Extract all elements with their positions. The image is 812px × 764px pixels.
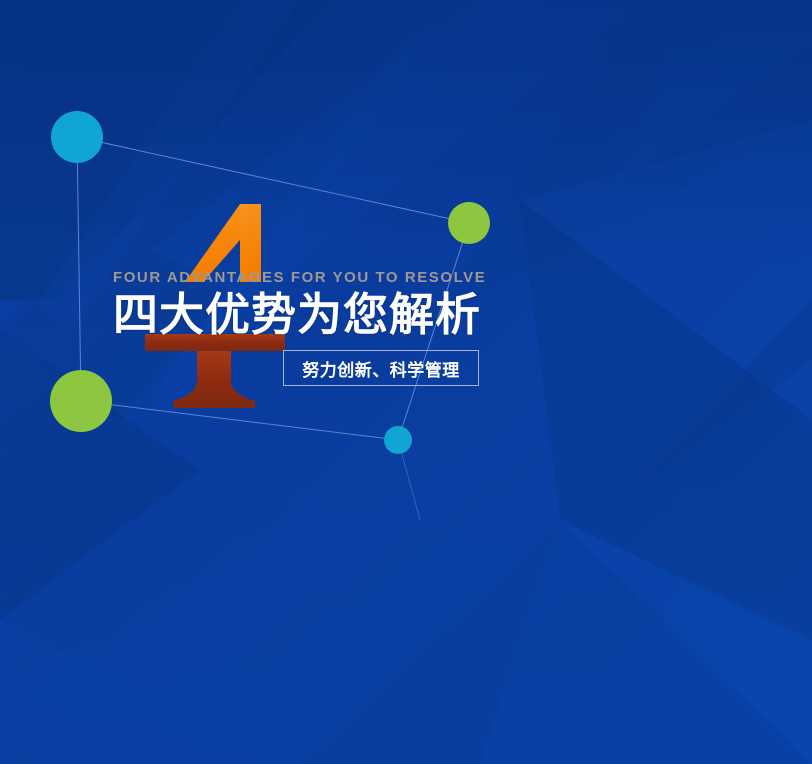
headline-block: FOUR ADVANTAGES FOR YOU TO RESOLVE 四大优势为…: [113, 270, 713, 339]
tagline-badge: 努力创新、科学管理: [283, 350, 479, 386]
eyebrow-text: FOUR ADVANTAGES FOR YOU TO RESOLVE: [113, 270, 713, 287]
promo-banner: FOUR ADVANTAGES FOR YOU TO RESOLVE 四大优势为…: [0, 0, 812, 764]
link-cyan-top-to-green-bottom: [77, 137, 81, 401]
tagline-text: 努力创新、科学管理: [302, 356, 460, 381]
node-green-bottom-left: [50, 370, 112, 432]
logo-pedestal-base: [145, 334, 285, 408]
node-cyan-bottom-mid: [384, 426, 412, 454]
page-title: 四大优势为您解析: [113, 291, 713, 340]
node-green-top-right: [448, 202, 490, 244]
node-cyan-top-left: [51, 111, 103, 163]
